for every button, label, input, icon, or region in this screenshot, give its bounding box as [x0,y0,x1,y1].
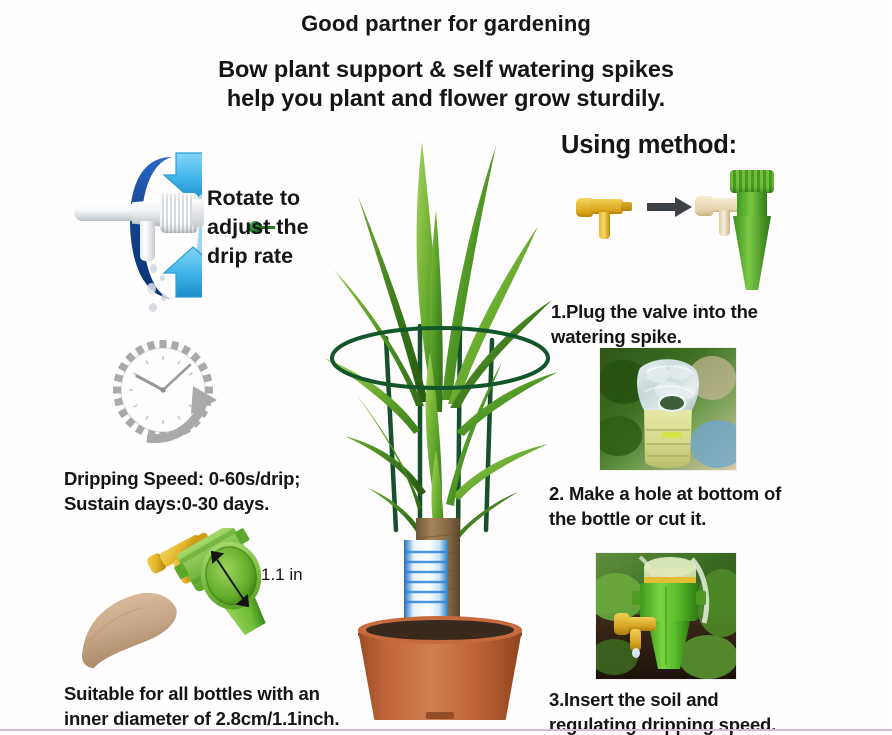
valve-knob-cap [192,199,204,227]
timing-caption-line-2: Sustain days:0-30 days. [64,491,300,516]
cream-valve-outlet [719,210,730,236]
plant-pot [358,616,522,720]
step-3-caption: 3.Insert the soil and regulating drippin… [549,687,776,735]
step-2-photo [600,348,736,470]
using-method-title: Using method: [561,131,737,160]
water-drop-icon [147,283,156,294]
timing-caption: Dripping Speed: 0-60s/drip; Sustain days… [64,466,300,516]
diameter-measure-label: 1.1 in [261,565,303,584]
diameter-caption-line-1: Suitable for all bottles with an [64,681,339,706]
green-spike-neck [737,192,767,218]
step-1-caption: 1.Plug the valve into the watering spike… [551,299,758,349]
step-3-caption-line-1: 3.Insert the soil and [549,687,776,712]
green-spike-cap [730,170,774,193]
step-2-caption-line-1: 2. Make a hole at bottom of [549,481,781,506]
water-drop-icon [632,648,640,658]
product-infographic: Good partner for gardening Bow plant sup… [0,0,892,735]
green-spike-cone [733,216,771,290]
potted-plant-photo [300,100,570,720]
yellow-valve-tip [621,202,632,211]
rotate-feature-label: Rotate to adjust the drip rate [207,184,309,271]
clock-with-arrow-icon [107,338,242,450]
rotate-feature-illustration [72,147,202,312]
rotate-label-line-2: adjust the [207,213,309,242]
subtitle-line-1: Bow plant support & self watering spikes [0,55,892,84]
cyan-arrow-up-icon [164,247,202,297]
timing-caption-line-1: Dripping Speed: 0-60s/drip; [64,466,300,491]
plant-leaves [324,142,558,548]
step-3-photo [596,553,736,679]
step-3-caption-line-2: regulating dripping speed. [549,712,776,735]
water-drop-icon [161,294,167,301]
bottom-border-rule [0,729,892,731]
plant-with-support-ring-graphic [300,100,570,720]
step-1-illustration [567,168,772,293]
diameter-feature-illustration: 1.1 in [80,528,320,673]
timing-feature-illustration [107,338,242,450]
diameter-caption-line-2: inner diameter of 2.8cm/1.1inch. [64,706,339,731]
step-2-caption-line-2: the bottle or cut it. [549,506,781,531]
rotate-label-line-1: Rotate to [207,184,309,213]
diameter-caption: Suitable for all bottles with an inner d… [64,681,339,731]
step-1-caption-line-1: 1.Plug the valve into the [551,299,758,324]
green-spike-in-hand-icon: 1.1 in [80,528,320,673]
yellow-valve-outlet [599,212,610,239]
water-drop-icon [149,303,157,312]
tagline: Good partner for gardening [0,11,892,37]
water-drop-icon [150,264,157,273]
step-2-caption: 2. Make a hole at bottom of the bottle o… [549,481,781,531]
rotate-label-line-3: drip rate [207,242,309,271]
water-drop-icon [160,275,165,281]
valve-outlet-stem [140,221,155,261]
right-arrow-icon [647,196,693,218]
step-1-caption-line-2: watering spike. [551,324,758,349]
